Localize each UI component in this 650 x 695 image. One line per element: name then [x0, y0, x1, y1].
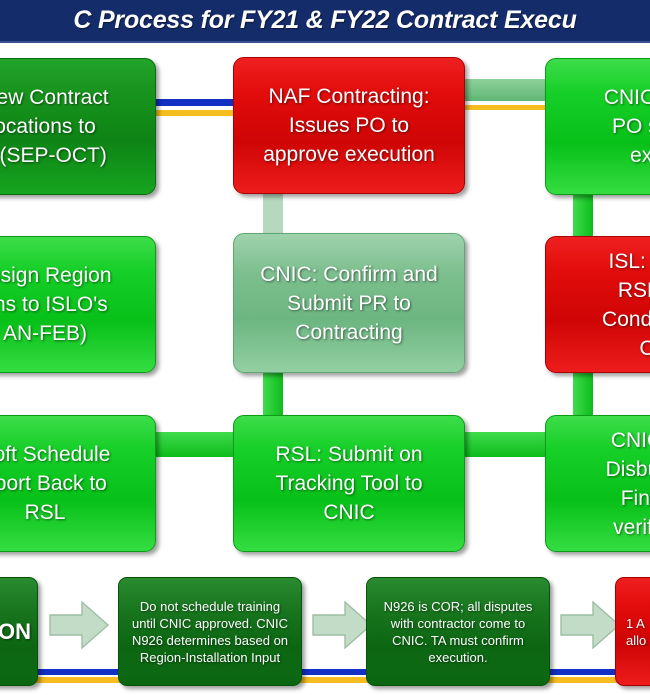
node-assign-region-islo[interactable]: assign Region ons to ISLO's AN-FEB) [0, 236, 156, 373]
bottom-rail-gold-line [0, 677, 650, 683]
connector-blue-row1 [152, 99, 236, 106]
connector-green-row1-right [458, 79, 548, 101]
node-new-contract-allocations[interactable]: New Contract ocations to s (SEP-OCT) [0, 58, 156, 195]
page-title: C Process for FY21 & FY22 Contract Execu [0, 0, 650, 40]
node-isl-rsl-conducted[interactable]: ISL: Cor RSL T Conducte C [545, 236, 650, 373]
note-text: 1 A allo [626, 615, 650, 649]
bottom-rail-blue-line [0, 669, 650, 675]
right-arrow-icon [48, 600, 110, 655]
node-label: NAF Contracting: Issues PO to approve ex… [234, 82, 464, 169]
node-naf-contracting[interactable]: NAF Contracting: Issues PO to approve ex… [233, 57, 465, 194]
node-label: ISL: Cor RSL T Conducte C [560, 247, 650, 363]
note-allocation[interactable]: 1 A allo [615, 577, 650, 686]
node-cnic-confirm-submit-pr[interactable]: CNIC: Confirm and Submit PR to Contracti… [233, 233, 465, 373]
connector-gold-row1 [152, 110, 236, 116]
connector-vertical-cnicrsl-isl [573, 190, 593, 240]
node-soft-schedule-report[interactable]: Soft Schedule eport Back to RSL [0, 415, 156, 552]
slide-title-banner: C Process for FY21 & FY22 Contract Execu [0, 0, 650, 43]
right-arrow-icon [311, 600, 373, 655]
node-cnic-rsl-po-sent[interactable]: CNIC/RS PO sen exe [545, 58, 650, 195]
right-arrow-icon [559, 600, 621, 655]
connector-row3-right [452, 432, 548, 457]
connector-row3-left [152, 432, 240, 457]
node-cnic-disbursement[interactable]: CNIC D Disburse Finan verified [545, 415, 650, 552]
note-text: N926 is COR; all disputes with contracto… [375, 598, 541, 666]
node-label: Soft Schedule eport Back to RSL [0, 440, 155, 527]
node-label: New Contract ocations to s (SEP-OCT) [0, 83, 155, 170]
note-lead-text: ON [0, 619, 31, 645]
connector-gold-row1-right [458, 105, 548, 110]
note-do-not-schedule[interactable]: Do not schedule training until CNIC appr… [118, 577, 302, 686]
note-n926-cor[interactable]: N926 is COR; all disputes with contracto… [366, 577, 550, 686]
node-label: CNIC D Disburse Finan verified [560, 426, 650, 542]
node-label: CNIC: Confirm and Submit PR to Contracti… [234, 260, 464, 347]
node-label: RSL: Submit on Tracking Tool to CNIC [234, 440, 464, 527]
node-rsl-submit-tracking-tool[interactable]: RSL: Submit on Tracking Tool to CNIC [233, 415, 465, 552]
note-text: Do not schedule training until CNIC appr… [127, 598, 293, 666]
node-label: CNIC/RS PO sen exe [560, 83, 650, 170]
node-label: assign Region ons to ISLO's AN-FEB) [0, 261, 155, 348]
note-lead-label[interactable]: ON [0, 577, 38, 686]
